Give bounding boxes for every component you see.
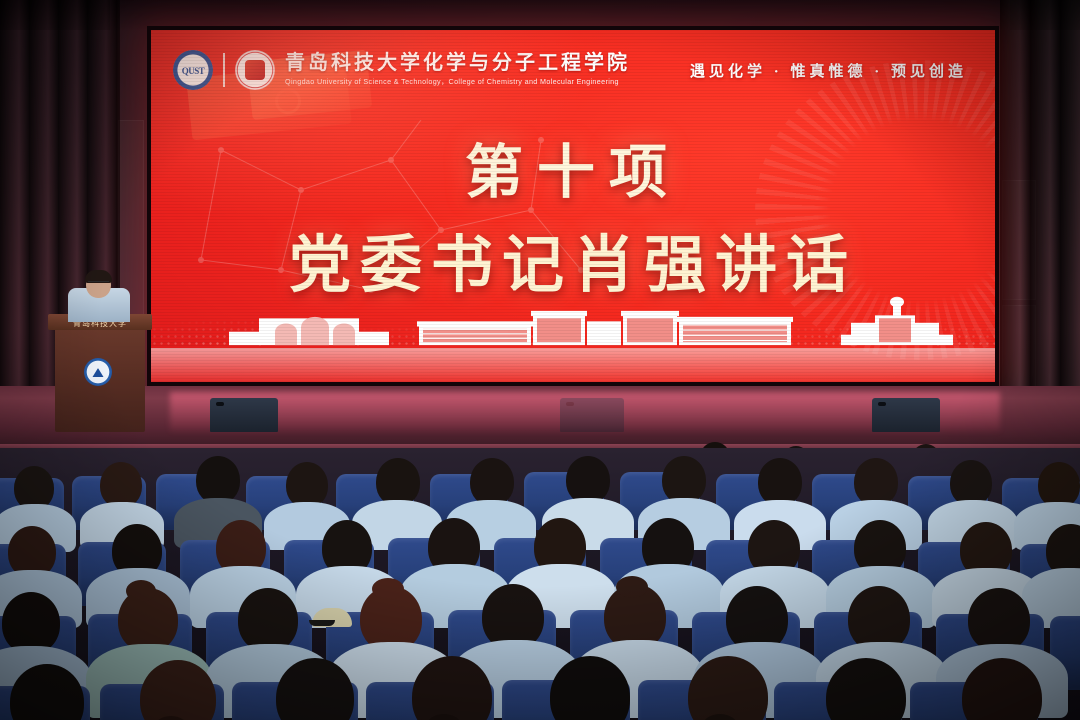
slide-header: QUST 青岛科技大学化学与分子工程学院 Qingdao University …	[151, 44, 995, 96]
college-of-chemistry-seal-icon	[235, 50, 275, 90]
hair-bun	[372, 578, 404, 600]
speaker-glasses-icon	[88, 281, 109, 285]
hair-bun	[616, 576, 648, 598]
slide-title: 第十项	[151, 125, 995, 209]
presentation-slide: QUST 青岛科技大学化学与分子工程学院 Qingdao University …	[151, 30, 995, 382]
lectern-emblem-icon	[84, 358, 112, 386]
person-head	[196, 456, 240, 504]
institution-name-cn: 青岛科技大学化学与分子工程学院	[285, 53, 630, 74]
led-screen-frame: QUST 青岛科技大学化学与分子工程学院 Qingdao University …	[147, 26, 999, 386]
person-head	[2, 592, 60, 654]
person-head	[968, 588, 1030, 652]
stage-monitor-right	[872, 398, 940, 432]
auditorium-photo: QUST 青岛科技大学化学与分子工程学院 Qingdao University …	[0, 0, 1080, 720]
hair-bun	[126, 580, 156, 602]
qust-university-seal-icon: QUST	[173, 50, 213, 90]
stage-monitor-left	[210, 398, 278, 432]
stage-monitor-center	[560, 398, 624, 432]
baseball-cap	[312, 608, 352, 627]
person-head	[662, 456, 706, 504]
person-head	[470, 458, 514, 506]
campus-skyline-graphic	[151, 296, 995, 382]
audience-seating	[0, 448, 1080, 720]
slide-subtitle: 党委书记肖强讲话	[151, 214, 995, 304]
slide-slogan: 遇见化学 · 惟真惟德 · 预见创造	[690, 60, 973, 81]
person-head	[854, 458, 898, 506]
person-head	[376, 458, 420, 506]
person-head	[758, 458, 802, 506]
ground-glow	[151, 348, 995, 382]
person-head	[238, 588, 298, 652]
institution-name-en: Qingdao University of Science & Technolo…	[285, 77, 630, 87]
person-head	[566, 456, 610, 504]
seal-divider	[223, 53, 225, 87]
institution-name-block: 青岛科技大学化学与分子工程学院 Qingdao University of Sc…	[285, 53, 630, 87]
